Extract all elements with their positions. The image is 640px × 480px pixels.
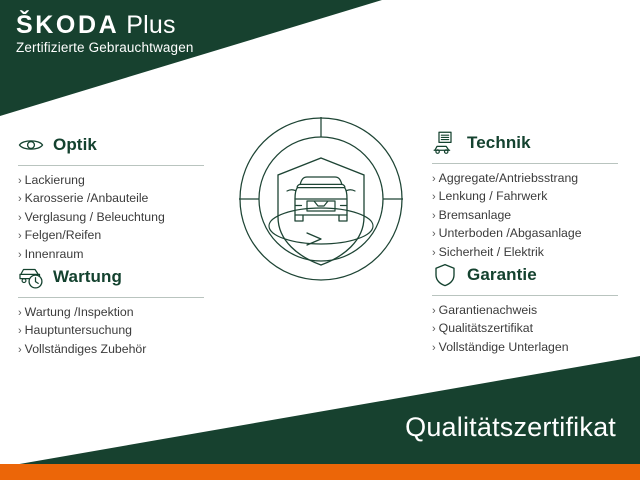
brand-suffix: Plus — [126, 12, 175, 38]
list-item: › Felgen/Reifen — [18, 227, 218, 245]
list-item: › Unterboden /Abgasanlage — [432, 225, 632, 243]
section-optik-header: Optik — [18, 130, 218, 160]
shield-icon — [432, 262, 458, 288]
brand-name: ŠKODA — [16, 12, 119, 38]
section-wartung-header: Wartung — [18, 262, 218, 292]
list-item: › Verglasung / Beleuchtung — [18, 209, 218, 227]
list-item: › Karosserie /Anbauteile — [18, 190, 218, 208]
section-garantie-list: › Garantienachweis › Qualitätszertifikat… — [432, 302, 632, 357]
section-garantie: Garantie › Garantienachweis › Qualitätsz… — [432, 260, 632, 357]
chevron-right-icon: › — [432, 189, 436, 206]
chevron-right-icon: › — [432, 340, 436, 357]
orange-accent-bar — [0, 464, 640, 480]
list-item-label: Aggregate/Antriebsstrang — [439, 170, 578, 187]
section-wartung-list: › Wartung /Inspektion › Hauptuntersuchun… — [18, 304, 218, 359]
list-item-label: Garantienachweis — [439, 302, 537, 319]
section-optik-divider — [18, 165, 204, 166]
footer-caption: Qualitätszertifikat — [405, 412, 616, 443]
list-item-label: Karosserie /Anbauteile — [25, 190, 149, 207]
section-garantie-divider — [432, 295, 618, 296]
certificate-poster: ŠKODA Plus Zertifizierte Gebrauchtwagen … — [0, 0, 640, 480]
section-wartung-divider — [18, 297, 204, 298]
list-item-label: Wartung /Inspektion — [25, 304, 134, 321]
brand-logo: ŠKODA Plus Zertifizierte Gebrauchtwagen — [16, 12, 194, 55]
list-item: › Vollständiges Zubehör — [18, 341, 218, 359]
section-optik: Optik › Lackierung › Karosserie /Anbaute… — [18, 130, 218, 264]
section-technik-header: Technik — [432, 128, 632, 158]
chevron-right-icon: › — [18, 323, 22, 340]
chevron-right-icon: › — [18, 173, 22, 190]
list-item-label: Lackierung — [25, 172, 85, 189]
list-item: › Wartung /Inspektion — [18, 304, 218, 322]
section-technik-list: › Aggregate/Antriebsstrang › Lenkung / F… — [432, 170, 632, 262]
list-item: › Bremsanlage — [432, 207, 632, 225]
eye-icon — [18, 132, 44, 158]
list-item: › Hauptuntersuchung — [18, 322, 218, 340]
section-garantie-header: Garantie — [432, 260, 632, 290]
list-item-label: Innenraum — [25, 246, 84, 263]
chevron-right-icon: › — [18, 210, 22, 227]
chevron-right-icon: › — [18, 191, 22, 208]
list-item-label: Hauptuntersuchung — [25, 322, 132, 339]
chevron-right-icon: › — [432, 171, 436, 188]
brand-tagline: Zertifizierte Gebrauchtwagen — [16, 41, 194, 55]
chevron-right-icon: › — [432, 321, 436, 338]
section-wartung-title: Wartung — [53, 267, 122, 287]
section-technik-divider — [432, 163, 618, 164]
list-item: › Garantienachweis — [432, 302, 632, 320]
section-wartung: Wartung › Wartung /Inspektion › Hauptunt… — [18, 262, 218, 359]
list-item-label: Vollständige Unterlagen — [439, 339, 569, 356]
list-item: › Aggregate/Antriebsstrang — [432, 170, 632, 188]
certified-vehicle-emblem — [235, 113, 407, 285]
chevron-right-icon: › — [432, 303, 436, 320]
list-item-label: Felgen/Reifen — [25, 227, 102, 244]
emblem-car-front — [287, 177, 355, 221]
chevron-right-icon: › — [18, 305, 22, 322]
chevron-right-icon: › — [432, 226, 436, 243]
section-garantie-title: Garantie — [467, 265, 537, 285]
list-item: › Vollständige Unterlagen — [432, 339, 632, 357]
list-item-label: Qualitätszertifikat — [439, 320, 533, 337]
list-item: › Lenkung / Fahrwerk — [432, 188, 632, 206]
list-item: › Qualitätszertifikat — [432, 320, 632, 338]
list-item-label: Lenkung / Fahrwerk — [439, 188, 548, 205]
brand-logo-primary: ŠKODA Plus — [16, 12, 194, 38]
car-service-clock-icon — [18, 264, 44, 290]
section-optik-list: › Lackierung › Karosserie /Anbauteile › … — [18, 172, 218, 264]
list-item-label: Bremsanlage — [439, 207, 511, 224]
list-item: › Lackierung — [18, 172, 218, 190]
section-technik: Technik › Aggregate/Antriebsstrang › Len… — [432, 128, 632, 262]
document-car-icon — [432, 130, 458, 156]
list-item-label: Verglasung / Beleuchtung — [25, 209, 165, 226]
section-optik-title: Optik — [53, 135, 97, 155]
chevron-right-icon: › — [432, 208, 436, 225]
chevron-right-icon: › — [18, 342, 22, 359]
chevron-right-icon: › — [18, 228, 22, 245]
section-technik-title: Technik — [467, 133, 531, 153]
list-item-label: Sicherheit / Elektrik — [439, 244, 544, 261]
list-item-label: Unterboden /Abgasanlage — [439, 225, 582, 242]
list-item-label: Vollständiges Zubehör — [25, 341, 147, 358]
